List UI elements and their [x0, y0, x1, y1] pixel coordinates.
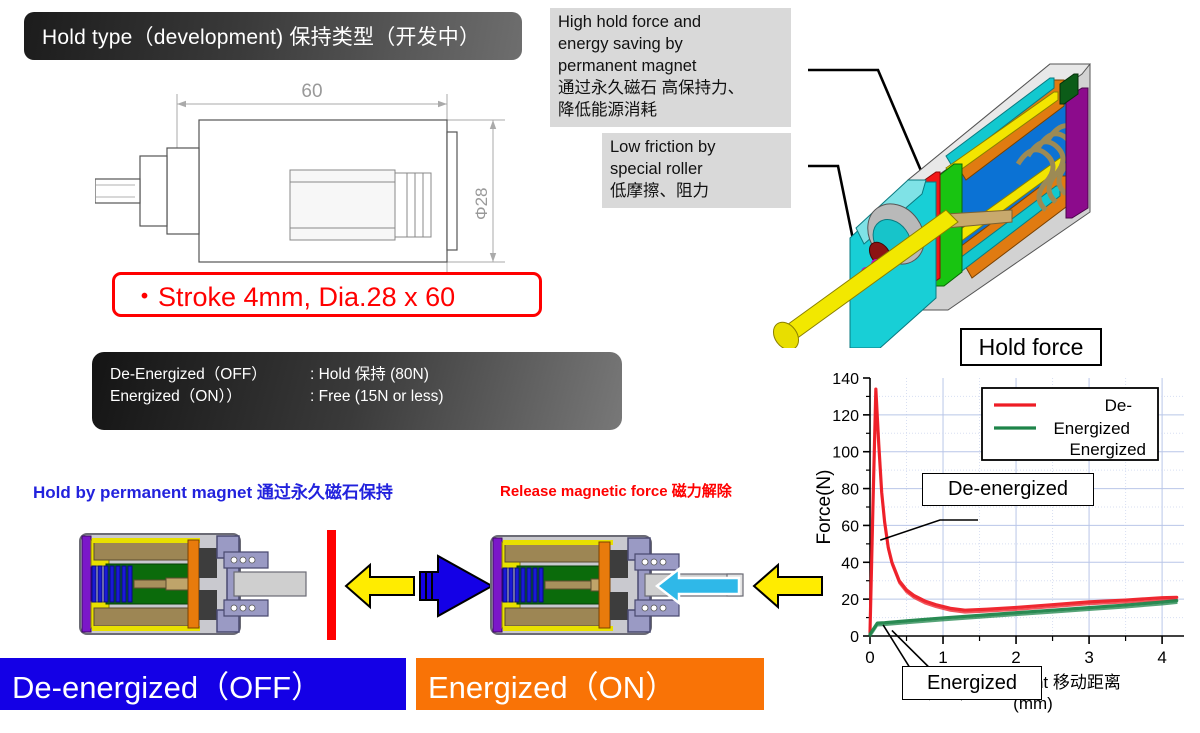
banner-energized: Energized（ON）: [416, 658, 764, 710]
svg-text:3: 3: [1084, 648, 1093, 667]
caption-release-magnetic-force: Release magnetic force 磁力解除: [500, 480, 732, 501]
spec-row: De-Energized（OFF） : Hold 保持 (80N): [110, 364, 622, 386]
callout-energized: Energized: [902, 666, 1042, 700]
banner-de-energized-label: De-energized（OFF）: [12, 662, 322, 707]
callout-de-energized: De-energized: [922, 473, 1094, 506]
spec-state-label: Energized（ON））: [110, 386, 310, 408]
caption-hold-by-magnet: Hold by permanent magnet 通过永久磁石保持: [33, 478, 393, 503]
svg-text:Energized: Energized: [1069, 440, 1146, 459]
svg-text:4: 4: [1157, 648, 1166, 667]
energize-spec-box: De-Energized（OFF） : Hold 保持 (80N) Energi…: [92, 352, 622, 430]
note-high-hold-force: High hold force and energy saving by per…: [550, 8, 791, 127]
dimension-diameter-label: Φ28: [472, 188, 491, 220]
slide-title: Hold type（development) 保持类型（开发中）: [24, 12, 522, 60]
svg-text:120: 120: [832, 408, 859, 425]
svg-text:20: 20: [841, 592, 859, 609]
svg-text:De-: De-: [1105, 396, 1132, 415]
cutaway-deenergized: [48, 528, 308, 640]
technical-drawing: 60 Φ28: [95, 72, 550, 272]
svg-text:140: 140: [832, 371, 859, 388]
dimension-length-label: 60: [301, 81, 322, 102]
svg-text:60: 60: [841, 518, 859, 535]
banner-energized-label: Energized（ON）: [428, 662, 676, 707]
slide-title-text: Hold type（development) 保持类型（开发中）: [42, 21, 480, 51]
hold-force-chart: Hold force 02040608010012014001234Force(…: [812, 318, 1200, 733]
banner-de-energized: De-energized（OFF）: [0, 658, 406, 710]
svg-text:0: 0: [865, 648, 874, 667]
svg-text:Energized: Energized: [1053, 419, 1130, 438]
svg-text:100: 100: [832, 445, 859, 462]
svg-text:2: 2: [1011, 648, 1020, 667]
arrow-blue-right: [418, 538, 496, 634]
arrow-yellow-left: [344, 561, 416, 611]
spec-row: Energized（ON）） : Free (15N or less): [110, 386, 622, 408]
stroke-spec-text: ・Stroke 4mm, Dia.28 x 60: [131, 275, 455, 314]
svg-text:0: 0: [850, 629, 859, 646]
chart-title: Hold force: [960, 328, 1102, 366]
spec-value-label: : Free (15N or less): [310, 386, 444, 408]
spec-value-label: : Hold 保持 (80N): [310, 364, 429, 386]
svg-text:40: 40: [841, 555, 859, 572]
svg-text:Force(N): Force(N): [814, 470, 835, 545]
spec-state-label: De-Energized（OFF）: [110, 364, 310, 386]
divider-red-bar: [327, 530, 336, 640]
cutaway-3d-isometric: [760, 58, 1200, 348]
stroke-spec-box: ・Stroke 4mm, Dia.28 x 60: [112, 272, 542, 317]
svg-text:1: 1: [938, 648, 947, 667]
arrow-cyan-left: [655, 565, 741, 607]
svg-text:80: 80: [841, 482, 859, 499]
